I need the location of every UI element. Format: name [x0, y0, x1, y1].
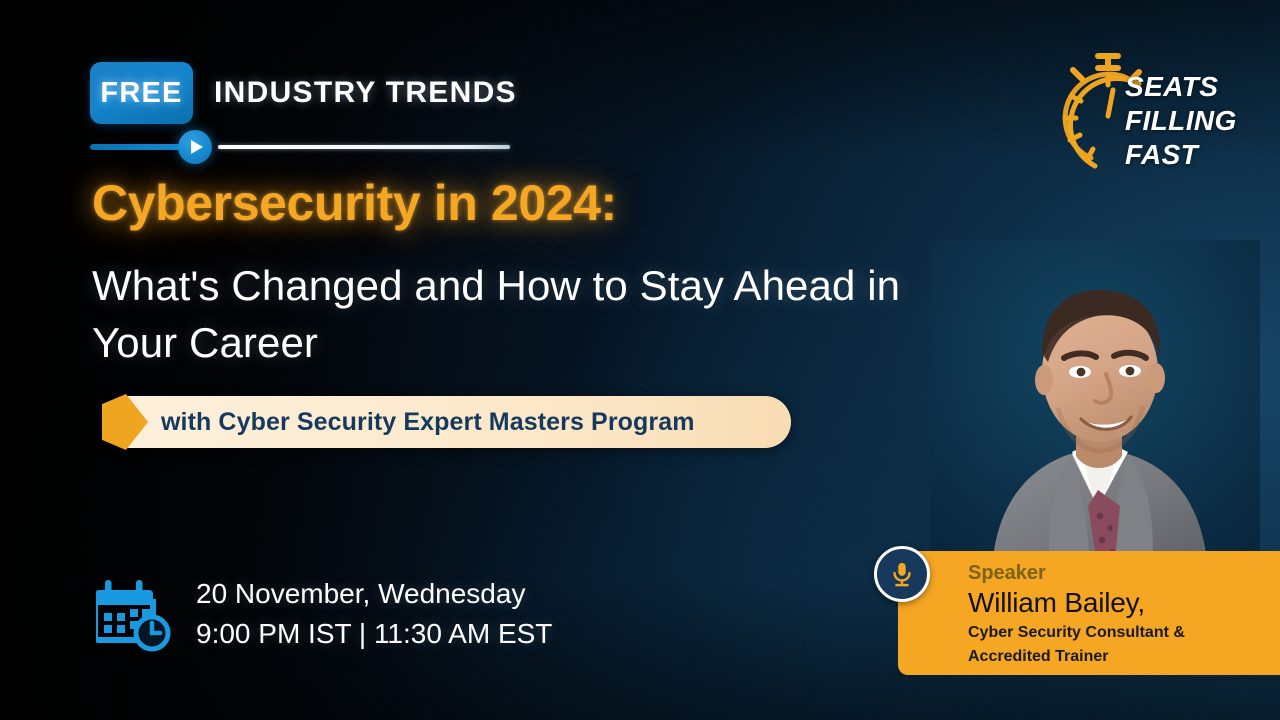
speaker-headshot — [930, 240, 1260, 570]
webinar-banner: FREE INDUSTRY TRENDS Cybersecurity in 20… — [0, 0, 1280, 720]
free-badge: FREE — [90, 62, 193, 124]
schedule-block: 20 November, Wednesday 9:00 PM IST | 11:… — [96, 573, 552, 655]
microphone-icon — [874, 546, 930, 602]
speaker-name: William Bailey, — [968, 585, 1280, 621]
speaker-title-line-2: Accredited Trainer — [968, 645, 1280, 669]
program-label: with Cyber Security Expert Masters Progr… — [161, 408, 695, 437]
speaker-role: Speaker — [968, 561, 1280, 585]
eyebrow-row: FREE INDUSTRY TRENDS — [90, 62, 517, 124]
schedule-text: 20 November, Wednesday 9:00 PM IST | 11:… — [196, 574, 552, 654]
progress-track — [218, 145, 510, 149]
urgency-line-3: FAST — [1125, 138, 1237, 172]
urgency-line-1: SEATS — [1125, 70, 1237, 104]
calendar-clock-icon — [96, 573, 180, 655]
urgency-badge: SEATS FILLING FAST — [1043, 48, 1243, 188]
microphone-glyph — [889, 560, 915, 588]
speaker-banner: Speaker William Bailey, Cyber Security C… — [898, 551, 1280, 675]
free-badge-label: FREE — [100, 77, 182, 110]
page-title: What's Changed and How to Stay Ahead in … — [92, 257, 972, 371]
program-pill: with Cyber Security Expert Masters Progr… — [103, 396, 791, 448]
headline-accent: Cybersecurity in 2024: — [92, 174, 617, 232]
category-label: INDUSTRY TRENDS — [214, 76, 517, 110]
event-time: 9:00 PM IST | 11:30 AM EST — [196, 614, 552, 654]
hexagon-arrow-icon — [102, 394, 148, 450]
play-triangle — [191, 140, 203, 154]
urgency-line-2: FILLING — [1125, 104, 1237, 138]
speaker-title-line-1: Cyber Security Consultant & — [968, 621, 1280, 645]
urgency-text: SEATS FILLING FAST — [1125, 70, 1237, 172]
play-icon[interactable] — [178, 130, 212, 164]
eyebrow-section: FREE INDUSTRY TRENDS — [90, 62, 517, 124]
progress-bar — [90, 130, 512, 164]
event-date: 20 November, Wednesday — [196, 574, 552, 614]
